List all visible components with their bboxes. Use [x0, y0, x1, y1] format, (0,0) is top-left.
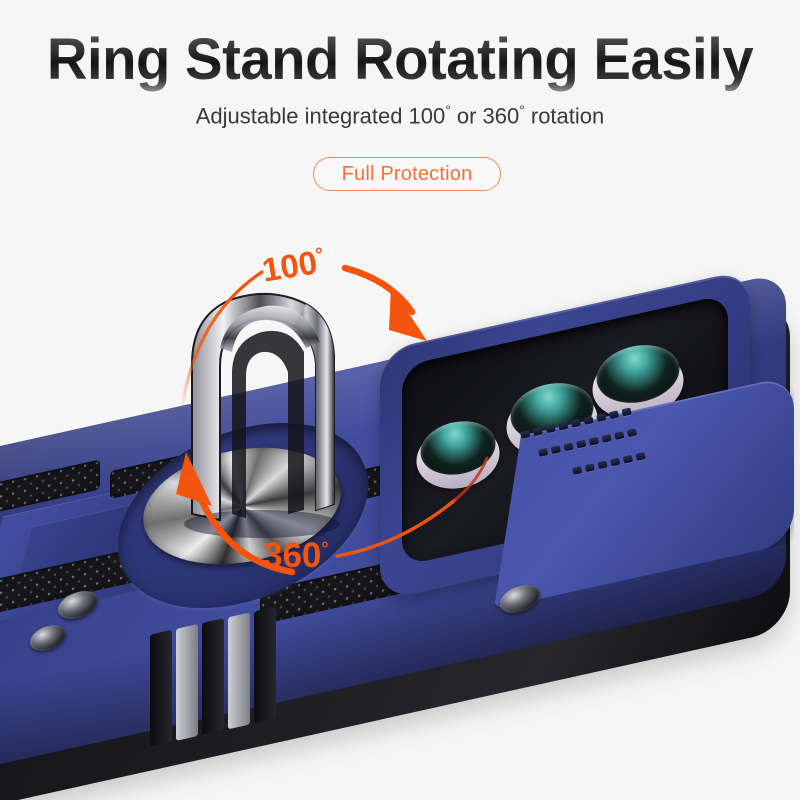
grip-dot [635, 452, 645, 461]
angle-100-value: 100 [259, 244, 319, 289]
grip-dot [571, 419, 581, 428]
grip-dot [545, 424, 555, 433]
grip-dot [585, 463, 595, 472]
grip-dot [576, 440, 586, 449]
page-subtitle: Adjustable integrated 100°or 360°rotatio… [0, 102, 800, 129]
grip-dot [551, 445, 561, 454]
angle-360-value: 360 [263, 536, 321, 575]
grip-dot [610, 458, 620, 467]
grip-dot [533, 427, 543, 436]
subtitle-part-after: rotation [531, 103, 604, 128]
grip-dot [558, 422, 568, 431]
grip-dot [538, 448, 548, 457]
badge-label: Full Protection [342, 163, 473, 186]
grip-dot [627, 428, 637, 437]
grip-dot [589, 437, 599, 446]
grip-dot [597, 460, 607, 469]
angle-360-unit: ° [321, 538, 328, 558]
grip-dot [601, 434, 611, 443]
subtitle-part-before: Adjustable integrated 100 [196, 103, 446, 128]
subtitle-part-middle: or 360 [457, 103, 519, 128]
grip-dot [563, 442, 573, 451]
page-title: Ring Stand Rotating Easily [12, 26, 788, 93]
grip-dot [572, 466, 582, 475]
camera-slider-grip [520, 412, 770, 502]
grip-dot [596, 413, 606, 422]
grip-dot [623, 455, 633, 464]
grip-dot [614, 431, 624, 440]
status-badge: Full Protection [313, 157, 501, 191]
grip-dot [583, 416, 593, 425]
ring-stand-kickstand[interactable] [120, 252, 400, 552]
product-illustration [0, 300, 800, 770]
grip-dot [520, 430, 530, 439]
degree-symbol-1: ° [445, 102, 457, 118]
grip-dot [609, 410, 619, 419]
grip-dot [622, 408, 632, 417]
angle-360-label: 360° [263, 536, 329, 576]
degree-symbol-2: ° [519, 102, 531, 118]
product-marketing-banner: Ring Stand Rotating Easily Adjustable in… [0, 0, 800, 800]
